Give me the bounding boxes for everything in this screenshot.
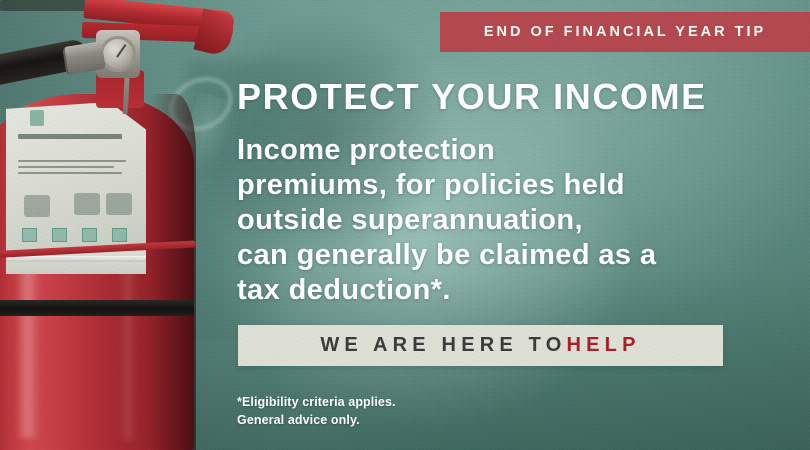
- page-title: PROTECT YOUR INCOME: [237, 76, 707, 118]
- extinguisher-label-mark: [30, 110, 44, 126]
- extinguisher-shading: [150, 94, 196, 450]
- fine-print-line: *Eligibility criteria applies.: [237, 393, 396, 411]
- body-copy-line: premiums, for policies held: [237, 168, 656, 203]
- cta-banner[interactable]: WE ARE HERE TO HELP: [238, 325, 723, 366]
- extinguisher-pictogram-icon: [74, 193, 100, 215]
- body-copy-line: Income protection: [237, 133, 656, 168]
- extinguisher-class-badge: [112, 228, 127, 242]
- extinguisher-label-text-line: [18, 160, 126, 162]
- fire-extinguisher-image: [0, 0, 230, 450]
- body-copy-line: tax deduction*.: [237, 273, 656, 308]
- body-copy-line: outside superannuation,: [237, 203, 656, 238]
- extinguisher-label-text-line: [18, 172, 122, 174]
- eofy-tip-banner: END OF FINANCIAL YEAR TIP: [440, 12, 810, 52]
- extinguisher-pictogram-icon: [24, 195, 50, 217]
- extinguisher-label-title-line: [18, 134, 122, 139]
- extinguisher-class-badge: [22, 228, 37, 242]
- body-copy: Income protection premiums, for policies…: [237, 133, 656, 308]
- fine-print-disclaimer: *Eligibility criteria applies. General a…: [237, 393, 396, 429]
- eofy-tip-label: END OF FINANCIAL YEAR TIP: [484, 24, 766, 40]
- body-copy-line: can generally be claimed as a: [237, 238, 656, 273]
- extinguisher-class-badge: [52, 228, 67, 242]
- extinguisher-class-badge: [82, 228, 97, 242]
- fine-print-line: General advice only.: [237, 411, 396, 429]
- extinguisher-label-text-line: [18, 166, 114, 168]
- extinguisher-pictogram-icon: [106, 193, 132, 215]
- cta-accent-label: HELP: [567, 334, 641, 357]
- cta-main-label: WE ARE HERE TO: [320, 334, 566, 357]
- extinguisher-label-crease: [6, 256, 146, 262]
- promo-graphic: END OF FINANCIAL YEAR TIP PROTECT YOUR I…: [0, 0, 810, 450]
- extinguisher-black-band: [0, 300, 194, 316]
